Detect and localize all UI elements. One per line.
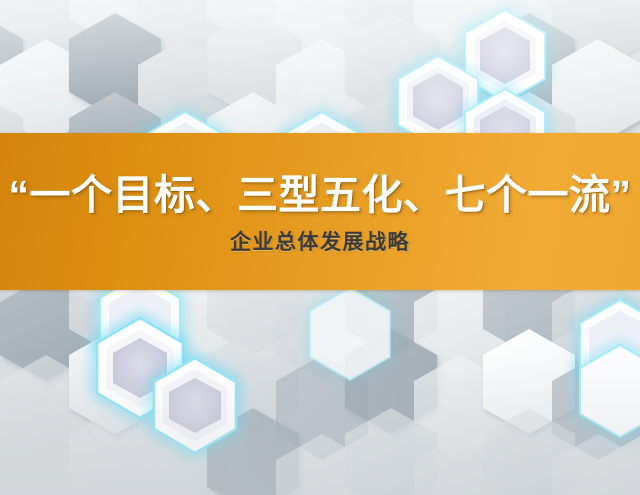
glow-hex-lower-c bbox=[154, 358, 236, 453]
slide-subtitle: 企业总体发展战略 bbox=[230, 232, 410, 253]
title-banner: “一个目标、三型五化、七个一流” 企业总体发展战略 bbox=[0, 133, 640, 290]
glow-hex-lower-right-edge bbox=[310, 288, 390, 380]
slide-canvas: “一个目标、三型五化、七个一流” 企业总体发展战略 bbox=[0, 0, 640, 495]
slide-title: “一个目标、三型五化、七个一流” bbox=[9, 175, 632, 216]
